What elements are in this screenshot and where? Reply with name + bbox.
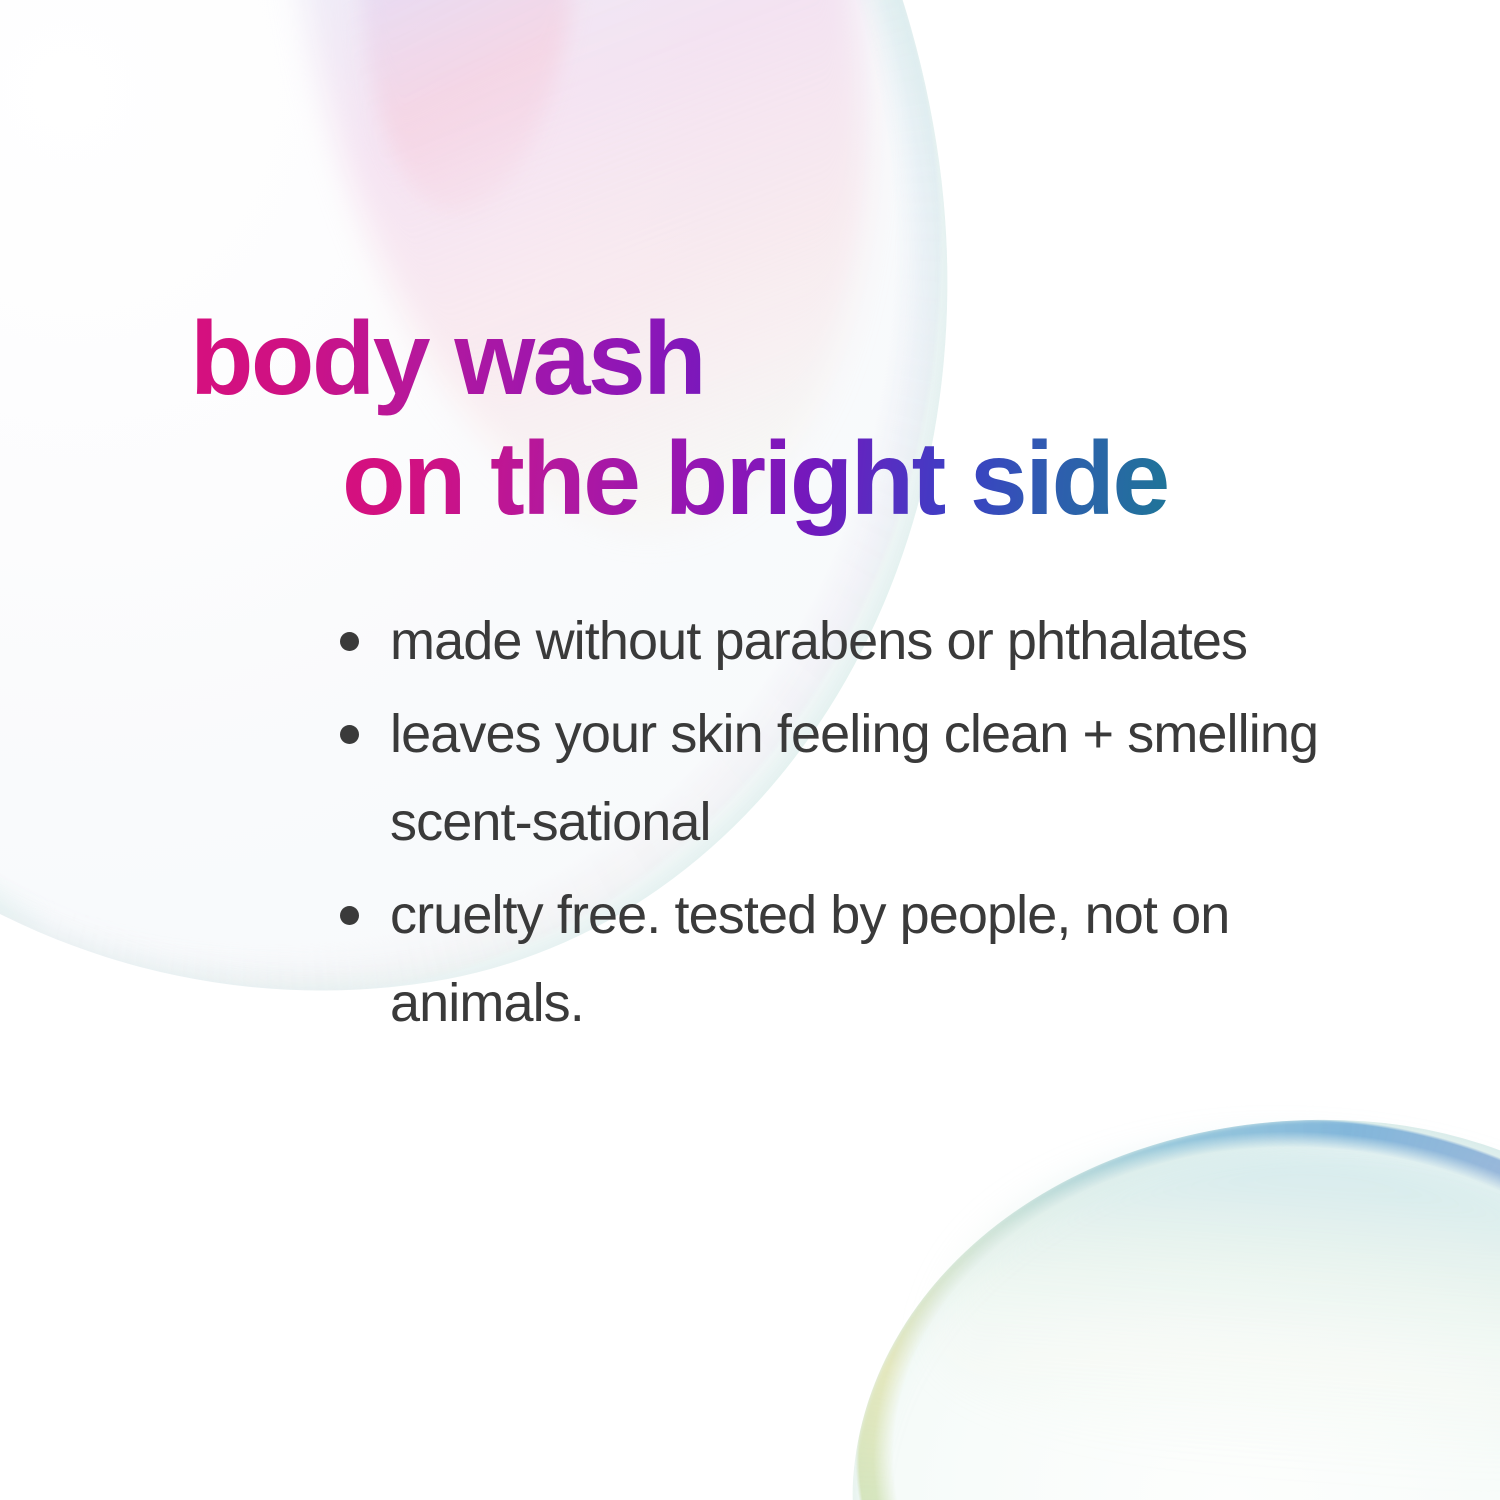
marketing-image: body wash on the bright side made withou… [0, 0, 1500, 1500]
headline-line-2: on the bright side [0, 420, 1500, 540]
feature-text: made without parabens or phthalates [390, 611, 1247, 671]
content-layer: body wash on the bright side made withou… [0, 0, 1500, 1500]
feature-text: leaves your skin feeling clean + smellin… [390, 704, 1318, 851]
headline-line-1: body wash [0, 300, 1500, 420]
bullet-dot-icon [340, 725, 359, 744]
list-item: cruelty free. tested by people, not on a… [338, 872, 1378, 1047]
bullet-dot-icon [340, 632, 359, 651]
list-item: made without parabens or phthalates [338, 598, 1378, 685]
list-item: leaves your skin feeling clean + smellin… [338, 691, 1378, 866]
feature-list: made without parabens or phthalates leav… [338, 598, 1378, 1053]
page-title: body wash on the bright side [0, 300, 1500, 539]
feature-text: cruelty free. tested by people, not on a… [390, 885, 1229, 1032]
bullet-dot-icon [340, 906, 359, 925]
